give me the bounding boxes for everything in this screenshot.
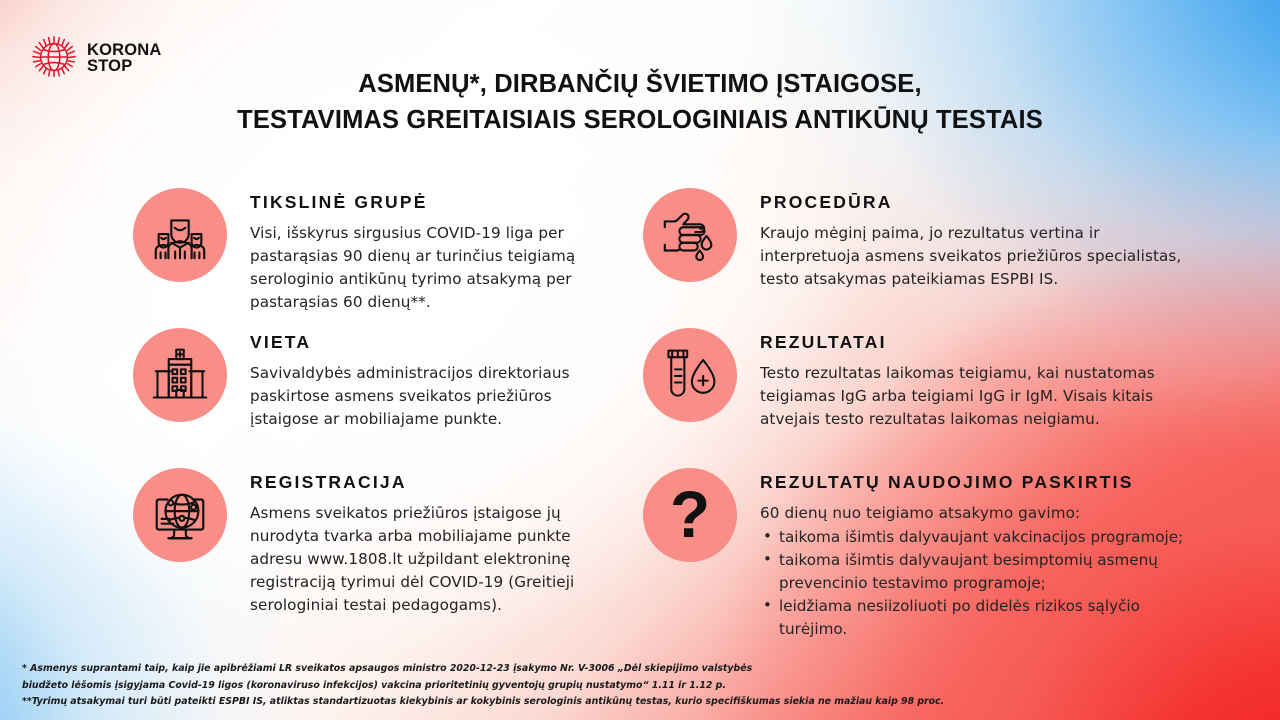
list-item: taikoma išimtis dalyvaujant vakcinacijos… xyxy=(760,526,1203,549)
test-tube-blood-drop-icon xyxy=(660,345,720,405)
section-rezultatų-naudojimo-paskirtis: ? REZULTATŲ NAUDOJIMO PASKIRTIS 60 dienų… xyxy=(643,468,1203,642)
section-registracija: REGISTRACIJA Asmens sveikatos priežiūros… xyxy=(133,468,623,617)
globe-monitor-icon xyxy=(149,484,211,546)
footnotes: * Asmenys suprantami taip, kaip jie apib… xyxy=(22,661,862,710)
section-title: REZULTATAI xyxy=(760,332,1203,353)
section-text: Savivaldybės administracijos direktoriau… xyxy=(250,362,623,431)
hand-blood-drop-icon xyxy=(659,204,721,266)
section-text: Kraujo mėginį paima, jo rezultatus verti… xyxy=(760,222,1203,291)
icon-badge-purpose: ? xyxy=(643,468,737,562)
page-title-line-1: ASMENŲ*, DIRBANČIŲ ŠVIETIMO ĮSTAIGOSE, xyxy=(358,70,921,98)
section-text: Asmens sveikatos priežiūros įstaigose jų… xyxy=(250,502,623,617)
icon-badge-procedure xyxy=(643,188,737,282)
hospital-building-icon xyxy=(150,345,210,405)
section-vieta: VIETA Savivaldybės administracijos direk… xyxy=(133,328,623,456)
logo-text-line1: KORONA xyxy=(87,42,162,59)
list-item: leidžiama nesiizoliuoti po didelės rizik… xyxy=(760,595,1203,641)
section-title: REGISTRACIJA xyxy=(250,472,623,493)
icon-badge-location xyxy=(133,328,227,422)
icon-badge-target-group xyxy=(133,188,227,282)
section-tikslinė-grupė: TIKSLINĖ GRUPĖ Visi, išskyrus sirgusius … xyxy=(133,188,623,316)
left-column: TIKSLINĖ GRUPĖ Visi, išskyrus sirgusius … xyxy=(133,188,623,617)
section-procedūra: PROCEDŪRA Kraujo mėginį paima, jo rezult… xyxy=(643,188,1203,316)
list-item: taikoma išimtis dalyvaujant besimptomių … xyxy=(760,549,1203,595)
group-of-people-icon xyxy=(149,204,211,266)
section-text: 60 dienų nuo teigiamo atsakymo gavimo: xyxy=(760,502,1203,525)
section-title: TIKSLINĖ GRUPĖ xyxy=(250,192,623,213)
footnote-line: **Tyrimų atsakymai turi būti pateikti ES… xyxy=(22,694,862,710)
icon-badge-registration xyxy=(133,468,227,562)
section-rezultatai: REZULTATAI Testo rezultatas laikomas tei… xyxy=(643,328,1203,456)
section-text: Visi, išskyrus sirgusius COVID-19 liga p… xyxy=(250,222,623,314)
question-mark-icon: ? xyxy=(670,481,710,547)
purpose-bullet-list: taikoma išimtis dalyvaujant vakcinacijos… xyxy=(760,526,1203,641)
section-title: VIETA xyxy=(250,332,623,353)
footnote-line: * Asmenys suprantami taip, kaip jie apib… xyxy=(22,661,862,677)
section-text: Testo rezultatas laikomas teigiamu, kai … xyxy=(760,362,1203,431)
page-title: ASMENŲ*, DIRBANČIŲ ŠVIETIMO ĮSTAIGOSE, T… xyxy=(0,66,1280,138)
icon-badge-results xyxy=(643,328,737,422)
page-title-line-2: TESTAVIMAS GREITAISIAIS SEROLOGINIAIS AN… xyxy=(0,102,1280,138)
section-title: REZULTATŲ NAUDOJIMO PASKIRTIS xyxy=(760,472,1203,493)
footnote-line: biudžeto lėšomis įsigyjama Covid-19 ligo… xyxy=(22,678,862,694)
right-column: PROCEDŪRA Kraujo mėginį paima, jo rezult… xyxy=(643,188,1203,642)
section-title: PROCEDŪRA xyxy=(760,192,1203,213)
